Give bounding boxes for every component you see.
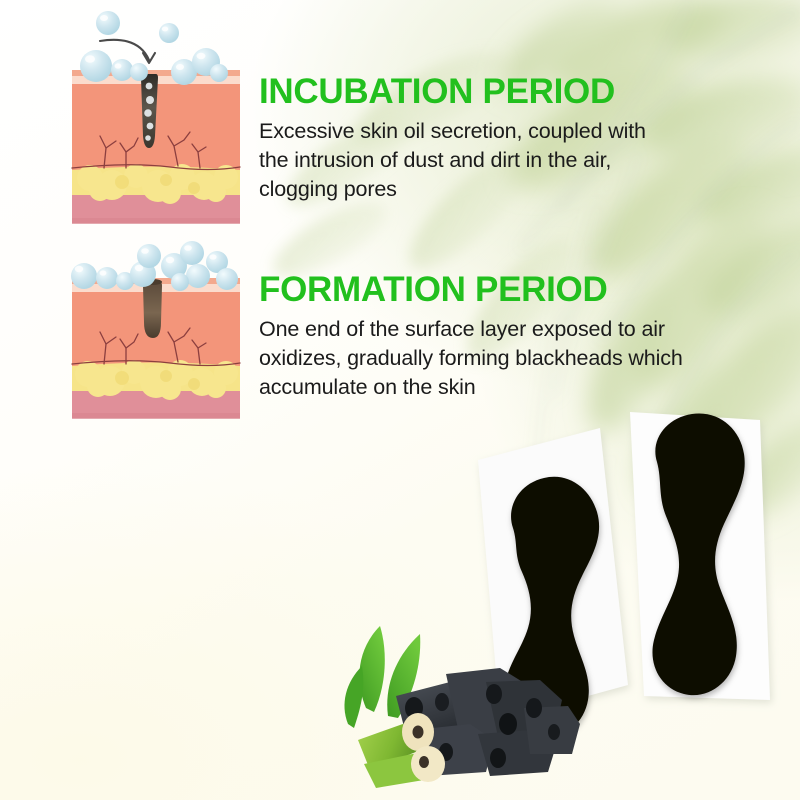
infographic-poster: INCUBATION PERIOD Excessive skin oil sec…: [0, 0, 800, 800]
skin-cross-section-blackhead-diagram: [70, 238, 242, 424]
section-incubation-text: INCUBATION PERIOD Excessive skin oil sec…: [259, 74, 659, 203]
fresh-bamboo-stalks: [358, 713, 445, 788]
blackhead-plug: [143, 279, 162, 338]
formation-heading: FORMATION PERIOD: [259, 272, 707, 308]
skin-cross-section-clogged-pore-diagram: [70, 2, 242, 228]
section-formation-text: FORMATION PERIOD One end of the surface …: [259, 272, 707, 401]
incubation-heading: INCUBATION PERIOD: [259, 74, 659, 110]
incubation-body: Excessive skin oil secretion, coupled wi…: [259, 117, 659, 203]
bamboo-charcoal-photo: [318, 612, 586, 800]
formation-body: One end of the surface layer exposed to …: [259, 315, 707, 401]
